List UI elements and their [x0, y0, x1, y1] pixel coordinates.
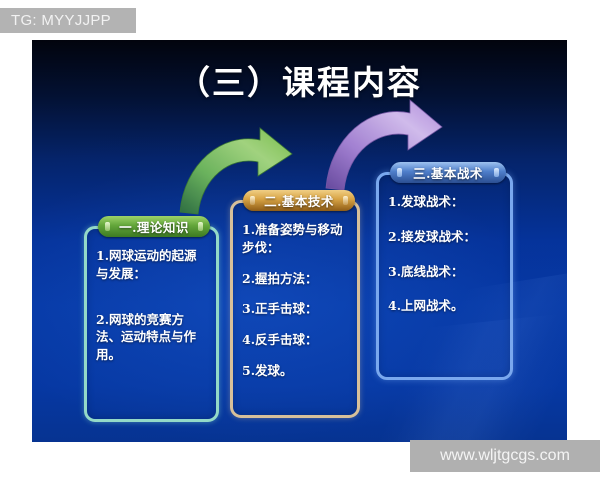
- badge-cap-right-icon: [494, 168, 499, 177]
- list-item: 3.底线战术：: [388, 263, 503, 281]
- card-theory[interactable]: 一.理论知识 1.网球运动的起源与发展： 2.网球的竞赛方法、运动特点与作用。: [84, 226, 219, 422]
- badge-cap-left-icon: [397, 168, 402, 177]
- slide-title: （三）课程内容: [32, 56, 567, 104]
- list-item: 2.握拍方法：: [242, 270, 350, 288]
- card-theory-body: 1.网球运动的起源与发展： 2.网球的竞赛方法、运动特点与作用。: [96, 247, 209, 377]
- card-tactics[interactable]: 三.基本战术 1.发球战术： 2.接发球战术： 3.底线战术： 4.上网战术。: [376, 172, 513, 380]
- list-item: 1.网球运动的起源与发展：: [96, 247, 209, 283]
- presentation-slide: （三）课程内容: [32, 40, 567, 442]
- list-item: 1.发球战术：: [388, 193, 503, 211]
- card-tactics-body: 1.发球战术： 2.接发球战术： 3.底线战术： 4.上网战术。: [388, 193, 503, 328]
- list-item: 2.接发球战术：: [388, 228, 503, 246]
- site-watermark: www.wljtgcgs.com: [410, 440, 600, 472]
- badge-cap-left-icon: [250, 196, 255, 205]
- list-item: 5.发球。: [242, 362, 350, 380]
- list-item: 3.正手击球：: [242, 300, 350, 318]
- card-tactics-badge: 三.基本战术: [390, 162, 506, 183]
- badge-cap-left-icon: [105, 222, 110, 231]
- card-theory-badge-label: 一.理论知识: [119, 217, 189, 236]
- tg-watermark-banner: TG: MYYJJPP: [0, 8, 136, 33]
- card-technique-badge: 二.基本技术: [243, 190, 355, 211]
- list-item: 1.准备姿势与移动步伐：: [242, 221, 350, 257]
- card-technique[interactable]: 二.基本技术 1.准备姿势与移动步伐： 2.握拍方法： 3.正手击球： 4.反手…: [230, 200, 360, 418]
- card-tactics-badge-label: 三.基本战术: [413, 163, 483, 182]
- screenshot-root: TG: MYYJJPP （三）课程内容: [0, 0, 600, 480]
- card-technique-body: 1.准备姿势与移动步伐： 2.握拍方法： 3.正手击球： 4.反手击球： 5.发…: [242, 221, 350, 393]
- list-item: 2.网球的竞赛方法、运动特点与作用。: [96, 311, 209, 364]
- badge-cap-right-icon: [343, 196, 348, 205]
- card-technique-badge-label: 二.基本技术: [264, 191, 334, 210]
- list-item: 4.反手击球：: [242, 331, 350, 349]
- card-theory-badge: 一.理论知识: [98, 216, 210, 237]
- list-item: 4.上网战术。: [388, 297, 503, 315]
- badge-cap-right-icon: [198, 222, 203, 231]
